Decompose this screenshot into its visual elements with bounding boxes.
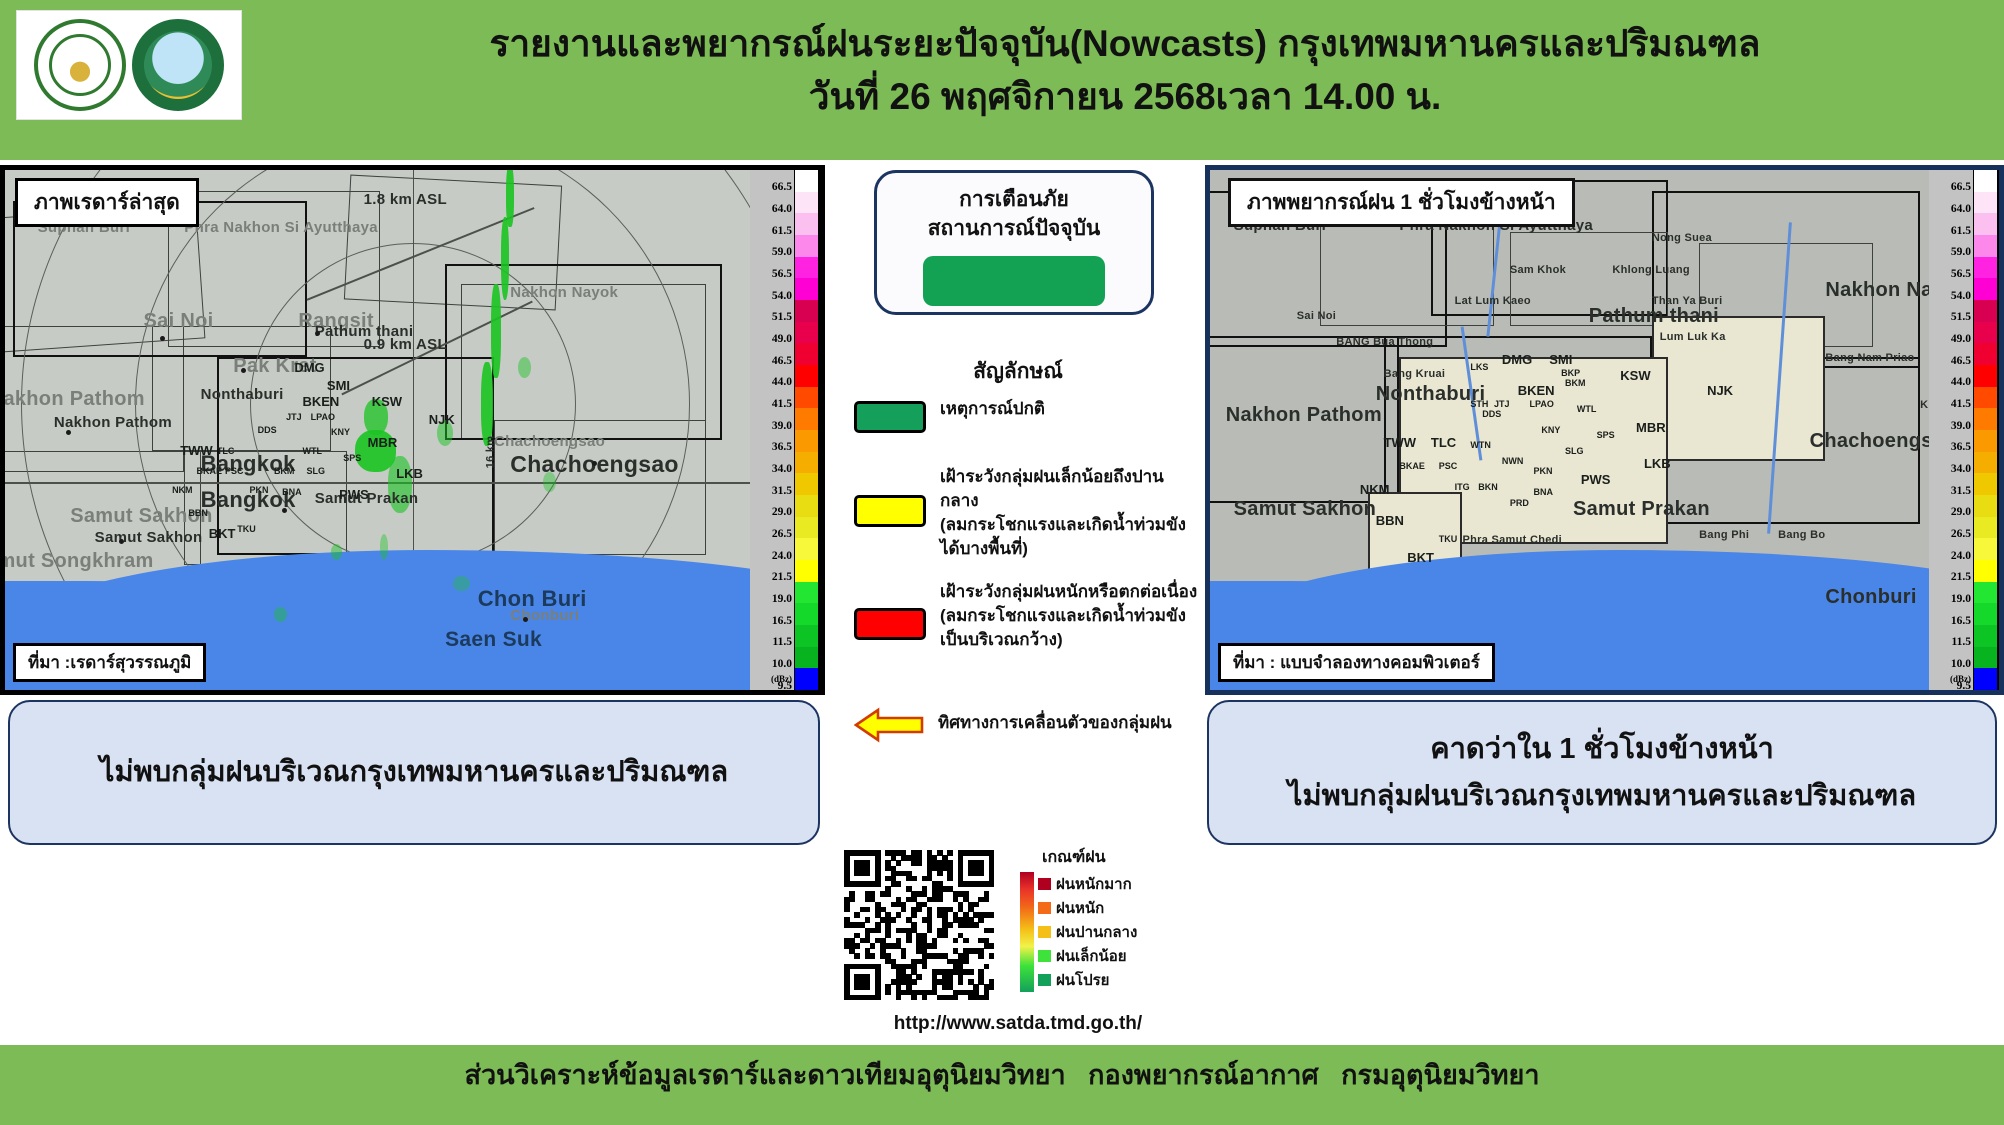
arrow-left-icon bbox=[854, 707, 924, 743]
colorbar-tick: 29.0 bbox=[772, 506, 792, 518]
alert-status-card: การเตือนภัย สถานการณ์ปัจจุบัน bbox=[874, 170, 1154, 315]
colorbar-tick: 24.0 bbox=[1951, 550, 1971, 562]
city-marker bbox=[592, 461, 597, 466]
district-code-dds: DDS bbox=[258, 425, 277, 435]
colorbar-segment bbox=[795, 408, 818, 430]
district-code-wtl: WTL bbox=[1577, 404, 1597, 414]
colorbar-segment bbox=[1974, 257, 1997, 279]
qr-code-block[interactable] bbox=[844, 850, 1016, 1000]
colorbar-tick: 16.5 bbox=[772, 615, 792, 627]
colorbar-segment bbox=[1974, 647, 1997, 669]
colorbar-segment bbox=[795, 582, 818, 604]
district-code-tku: TKU bbox=[237, 524, 256, 534]
radar-panel-title: ภาพเรดาร์ล่าสุด bbox=[15, 178, 199, 227]
summary-left-text: ไม่พบกลุ่มฝนบริเวณกรุงเทพมหานครและปริมณฑ… bbox=[100, 749, 728, 795]
colorbar-segment bbox=[1974, 603, 1997, 625]
rain-gradient-bar bbox=[1020, 872, 1034, 992]
district-code-pkn: PKN bbox=[1533, 466, 1552, 476]
footer-text: ส่วนวิเคราะห์ข้อมูลเรดาร์และดาวเทียมอุตุ… bbox=[464, 1053, 1539, 1096]
district-code-bkn: BKN bbox=[1478, 482, 1498, 492]
colorbar-segment bbox=[795, 538, 818, 560]
map-label-nakhonnayok: Nakhon Nayok bbox=[510, 284, 618, 301]
colorbar-segment bbox=[1974, 408, 1997, 430]
district-code-bkt: BKT bbox=[1407, 550, 1434, 565]
radar-axis-horizontal bbox=[5, 482, 820, 484]
district-code-dmg: DMG bbox=[1502, 352, 1532, 367]
district-code-slg: SLG bbox=[307, 466, 326, 476]
legend-swatch-green bbox=[854, 401, 926, 433]
map-label-saensuk: Saen Suk bbox=[445, 628, 542, 652]
colorbar-segment bbox=[795, 192, 818, 214]
agency-logos bbox=[16, 10, 242, 120]
colorbar-ticks: 66.564.061.559.056.554.051.549.046.544.0… bbox=[750, 170, 794, 690]
summary-box-forecast: คาดว่าใน 1 ชั่วโมงข้างหน้า ไม่พบกลุ่มฝนบ… bbox=[1207, 700, 1997, 845]
legend-heading: สัญลักษณ์ bbox=[838, 355, 1198, 388]
colorbar-tick: 11.5 bbox=[1952, 636, 1972, 648]
radar-echo bbox=[491, 284, 501, 378]
colorbar-segment bbox=[1974, 278, 1997, 300]
district-code-kny: KNY bbox=[331, 427, 350, 437]
district-code-bbn: BBN bbox=[188, 508, 208, 518]
colorbar-segment bbox=[795, 495, 818, 517]
forecast-map-canvas[interactable]: Suphan Buri Phra Nakhon Si Ayutthaya Nak… bbox=[1210, 170, 1999, 690]
district-code-lkb: LKB bbox=[396, 466, 423, 481]
legend-item-heavy: เฝ้าระวังกลุ่มฝนหนักหรือตกต่อเนื่อง (ลมก… bbox=[854, 580, 1197, 652]
page-header: รายงานและพยากรณ์ฝนระยะปัจจุบัน(Nowcasts)… bbox=[0, 0, 2004, 160]
alert-title-2: สถานการณ์ปัจจุบัน bbox=[928, 214, 1101, 243]
colorbar-tick: 26.5 bbox=[1951, 528, 1971, 540]
colorbar-segment bbox=[1974, 452, 1997, 474]
legend-item-direction: ทิศทางการเคลื่อนตัวของกลุ่มฝน bbox=[854, 705, 1172, 743]
radar-echo bbox=[481, 362, 493, 445]
colorbar-tick: 31.5 bbox=[772, 485, 792, 497]
district-code-pws: PWS bbox=[339, 487, 369, 502]
district-code-pws: PWS bbox=[1581, 472, 1611, 487]
district-code-prd: PRD bbox=[1510, 498, 1529, 508]
district-code-nkm: NKM bbox=[172, 485, 193, 495]
alert-status-badge bbox=[923, 256, 1105, 306]
colorbar-segment bbox=[1974, 365, 1997, 387]
district-code-nkm: NKM bbox=[1360, 482, 1390, 497]
radar-latest-panel[interactable]: 1.8 km ASL 0.9 km ASL Suphan Buri Phra N… bbox=[0, 165, 825, 695]
rain-criteria-swatch bbox=[1038, 878, 1051, 890]
district-code-mbr: MBR bbox=[368, 435, 398, 450]
colorbar-tick: 66.5 bbox=[1951, 181, 1971, 193]
district-code-sps: SPS bbox=[343, 453, 361, 463]
district-code-jtj: JTJ bbox=[1494, 399, 1510, 409]
colorbar-tick: 29.0 bbox=[1951, 506, 1971, 518]
colorbar-segment bbox=[795, 257, 818, 279]
radar-echo bbox=[380, 534, 388, 560]
district-code-smi: SMI bbox=[1549, 352, 1572, 367]
map-label-samutprakan: Samut Prakan bbox=[1573, 498, 1710, 521]
district-code-kny: KNY bbox=[1541, 425, 1560, 435]
district-code-sth: STH bbox=[1470, 399, 1488, 409]
district-code-mbr: MBR bbox=[1636, 420, 1666, 435]
legend-item-normal: เหตุการณ์ปกติ bbox=[854, 397, 1045, 433]
colorbar-strip bbox=[794, 170, 820, 690]
colorbar-segment bbox=[795, 517, 818, 539]
rain-criteria-swatch bbox=[1038, 902, 1051, 914]
district-code-lks: LKS bbox=[1470, 362, 1488, 372]
colorbar-segment bbox=[795, 430, 818, 452]
map-label-nakhonpathom-city: Nakhon Pathom bbox=[54, 414, 172, 431]
district-code-lpao: LPAO bbox=[311, 412, 335, 422]
colorbar-tick: 54.0 bbox=[1951, 290, 1971, 302]
map-label-bangbuathong: BANG Bua Thong bbox=[1336, 336, 1433, 348]
district-code-psc: PSC bbox=[1439, 461, 1458, 471]
radar-map-canvas[interactable]: 1.8 km ASL 0.9 km ASL Suphan Buri Phra N… bbox=[5, 170, 820, 690]
colorbar-segment bbox=[795, 322, 818, 344]
district-code-bken: BKEN bbox=[1518, 383, 1555, 398]
colorbar-segment bbox=[1974, 170, 1997, 192]
district-code-tww: TWW bbox=[180, 443, 212, 458]
colorbar-segment bbox=[795, 647, 818, 669]
district-code-tlc: TLC bbox=[1431, 435, 1456, 450]
rain-forecast-panel[interactable]: Suphan Buri Phra Nakhon Si Ayutthaya Nak… bbox=[1205, 165, 2004, 695]
city-marker bbox=[315, 331, 320, 336]
colorbar-segment bbox=[795, 170, 818, 192]
forecast-colorbar: 66.564.061.559.056.554.051.549.046.544.0… bbox=[1929, 170, 1999, 690]
colorbar-segment bbox=[795, 473, 818, 495]
colorbar-tick: 54.0 bbox=[772, 290, 792, 302]
colorbar-tick: 56.5 bbox=[1951, 268, 1971, 280]
tmd-royal-seal-icon bbox=[34, 19, 126, 111]
colorbar-tick: 11.5 bbox=[773, 636, 793, 648]
rain-criteria-swatch bbox=[1038, 974, 1051, 986]
title-line-1: รายงานและพยากรณ์ฝนระยะปัจจุบัน(Nowcasts)… bbox=[260, 18, 1990, 71]
colorbar-tick: 41.5 bbox=[1951, 398, 1971, 410]
district-code-bkp: BKP bbox=[1561, 368, 1580, 378]
colorbar-segment bbox=[795, 625, 818, 647]
map-label-phrasamutchedi: Phra Samut Chedi bbox=[1462, 534, 1562, 546]
legend-item-moderate: เฝ้าระวังกลุ่มฝนเล็กน้อยถึงปานกลาง (ลมกร… bbox=[854, 465, 1198, 562]
colorbar-tick: 59.0 bbox=[772, 246, 792, 258]
district-code-lpao: LPAO bbox=[1530, 399, 1554, 409]
colorbar-tick: 49.0 bbox=[1951, 333, 1971, 345]
colorbar-tick: 39.0 bbox=[772, 420, 792, 432]
rain-criteria-label: ฝนเล็กน้อย bbox=[1056, 944, 1127, 968]
colorbar-segment bbox=[1974, 625, 1997, 647]
alert-title-1: การเตือนภัย bbox=[959, 185, 1069, 214]
colorbar-unit: (dBz) bbox=[771, 674, 792, 684]
map-label-chonburi: Chonburi bbox=[510, 607, 579, 624]
city-marker bbox=[523, 617, 528, 622]
district-code-bkae: BKAE bbox=[1399, 461, 1425, 471]
district-code-sps: SPS bbox=[1597, 430, 1615, 440]
summary-right-line2: ไม่พบกลุ่มฝนบริเวณกรุงเทพมหานครและปริมณฑ… bbox=[1288, 773, 1916, 819]
summary-right-line1: คาดว่าใน 1 ชั่วโมงข้างหน้า bbox=[1430, 726, 1774, 772]
page-footer: ส่วนวิเคราะห์ข้อมูลเรดาร์และดาวเทียมอุตุ… bbox=[0, 1045, 2004, 1125]
colorbar-segment bbox=[1974, 430, 1997, 452]
radar-colorbar: 66.564.061.559.056.554.051.549.046.544.0… bbox=[750, 170, 820, 690]
colorbar-ticks: 66.564.061.559.056.554.051.549.046.544.0… bbox=[1929, 170, 1973, 690]
colorbar-segment bbox=[1974, 473, 1997, 495]
colorbar-segment bbox=[1974, 322, 1997, 344]
map-label-nonthaburi: Nonthaburi bbox=[1376, 383, 1486, 406]
district-code-tww: TWW bbox=[1384, 435, 1416, 450]
district-code-lkb: LKB bbox=[1644, 456, 1671, 471]
colorbar-segment bbox=[1974, 235, 1997, 257]
colorbar-segment bbox=[1974, 495, 1997, 517]
colorbar-tick: 66.5 bbox=[772, 181, 792, 193]
legend-swatch-red bbox=[854, 608, 926, 640]
map-label-latlumkaeo: Lat Lum Kaeo bbox=[1455, 295, 1531, 307]
colorbar-tick: 64.0 bbox=[772, 203, 792, 215]
forecast-source-label: ที่มา : แบบจำลองทางคอมพิวเตอร์ bbox=[1218, 643, 1495, 682]
colorbar-tick: 49.0 bbox=[772, 333, 792, 345]
colorbar-segment bbox=[1974, 213, 1997, 235]
rain-criteria-label: ฝนโปรย bbox=[1056, 968, 1109, 992]
colorbar-tick: 51.5 bbox=[1951, 311, 1971, 323]
colorbar-segment bbox=[795, 278, 818, 300]
rain-criteria-title: เกณฑ์ฝน bbox=[1042, 845, 1200, 870]
rain-criteria-item: ฝนปานกลาง bbox=[1038, 920, 1137, 944]
map-label-pathumthani: Pathum thani bbox=[315, 323, 414, 340]
legend-label-normal: เหตุการณ์ปกติ bbox=[940, 397, 1045, 421]
district-code-bkae: BKAE bbox=[197, 466, 223, 476]
colorbar-segment bbox=[1974, 582, 1997, 604]
map-label-bangbo: Bang Bo bbox=[1778, 529, 1825, 541]
legend-swatch-yellow bbox=[854, 495, 926, 527]
map-label-chonburi: Chonburi bbox=[1825, 586, 1916, 609]
rain-criteria-label: ฝนหนัก bbox=[1056, 896, 1104, 920]
district-code-wtl: WTL bbox=[302, 446, 322, 456]
colorbar-segment bbox=[1974, 668, 1997, 690]
colorbar-tick: 56.5 bbox=[772, 268, 792, 280]
colorbar-strip bbox=[1973, 170, 1999, 690]
map-label-nakhonpathom: Nakhon Pathom bbox=[1226, 404, 1382, 427]
city-marker bbox=[241, 368, 246, 373]
district-code-bna: BNA bbox=[1533, 487, 1553, 497]
colorbar-tick: 10.0 bbox=[772, 658, 792, 670]
legend-label-direction: ทิศทางการเคลื่อนตัวของกลุ่มฝน bbox=[938, 711, 1172, 735]
rain-criteria-swatch bbox=[1038, 926, 1051, 938]
rain-criteria-label: ฝนปานกลาง bbox=[1056, 920, 1137, 944]
district-code-bkt: BKT bbox=[209, 526, 236, 541]
radar-echo bbox=[506, 165, 513, 227]
colorbar-tick: 36.5 bbox=[772, 441, 792, 453]
legend-column: การเตือนภัย สถานการณ์ปัจจุบัน สัญลักษณ์ … bbox=[838, 165, 1198, 1045]
colorbar-segment bbox=[795, 603, 818, 625]
map-label-samutsakhon: Samut Sakhon bbox=[1234, 498, 1377, 521]
colorbar-segment bbox=[1974, 560, 1997, 582]
colorbar-tick: 64.0 bbox=[1951, 203, 1971, 215]
colorbar-tick: 24.0 bbox=[772, 550, 792, 562]
rain-criteria-item: ฝนหนัก bbox=[1038, 896, 1137, 920]
colorbar-segment bbox=[1974, 343, 1997, 365]
colorbar-segment bbox=[795, 365, 818, 387]
district-code-dmg: DMG bbox=[294, 360, 324, 375]
colorbar-tick: 21.5 bbox=[772, 571, 792, 583]
altitude-label-18: 1.8 km ASL bbox=[364, 191, 447, 208]
summary-box-current: ไม่พบกลุ่มฝนบริเวณกรุงเทพมหานครและปริมณฑ… bbox=[8, 700, 820, 845]
colorbar-tick: 61.5 bbox=[1951, 225, 1971, 237]
colorbar-tick: 41.5 bbox=[772, 398, 792, 410]
district-code-bna: BNA bbox=[282, 487, 302, 497]
colorbar-tick: 19.0 bbox=[772, 593, 792, 605]
map-label-nakhonpathom-prov: Nakhon Pathom bbox=[0, 388, 145, 411]
district-code-njk: NJK bbox=[1707, 383, 1733, 398]
colorbar-tick: 46.5 bbox=[1951, 355, 1971, 367]
colorbar-tick: 16.5 bbox=[1951, 615, 1971, 627]
map-label-nonthaburi: Nonthaburi bbox=[201, 386, 284, 403]
colorbar-tick: 36.5 bbox=[1951, 441, 1971, 453]
district-code-bken: BKEN bbox=[302, 394, 339, 409]
map-label-bangkruai: Bang Kruai bbox=[1384, 368, 1446, 380]
district-code-bbn: BBN bbox=[1376, 513, 1404, 528]
rain-criteria-item: ฝนเล็กน้อย bbox=[1038, 944, 1137, 968]
district-code-ksw: KSW bbox=[372, 394, 402, 409]
legend-label-heavy: เฝ้าระวังกลุ่มฝนหนักหรือตกต่อเนื่อง (ลมก… bbox=[940, 580, 1197, 652]
map-label-lumlukka: Lum Luk Ka bbox=[1660, 331, 1726, 343]
district-code-nwn: NWN bbox=[1502, 456, 1524, 466]
colorbar-tick: 46.5 bbox=[772, 355, 792, 367]
map-label-samutsakhon-city: Samut Sakhon bbox=[95, 529, 203, 546]
colorbar-tick: 26.5 bbox=[772, 528, 792, 540]
radar-source-label: ที่มา :เรดาร์สุวรรณภูมิ bbox=[13, 643, 206, 682]
colorbar-tick: 34.0 bbox=[1951, 463, 1971, 475]
colorbar-segment bbox=[795, 300, 818, 322]
satda-url-text[interactable]: http://www.satda.tmd.go.th/ bbox=[838, 1013, 1198, 1035]
map-label-sainoi: Sai Noi bbox=[144, 310, 214, 333]
district-code-bkm: BKM bbox=[1565, 378, 1586, 388]
map-label-khlongluang: Khlong Luang bbox=[1612, 264, 1690, 276]
colorbar-tick: 44.0 bbox=[772, 376, 792, 388]
tmd-meteorological-seal-icon bbox=[132, 19, 224, 111]
map-label-bangphi: Bang Phi bbox=[1699, 529, 1749, 541]
rain-criteria-items: ฝนหนักมากฝนหนักฝนปานกลางฝนเล็กน้อยฝนโปรย bbox=[1038, 872, 1137, 992]
colorbar-tick: 10.0 bbox=[1951, 658, 1971, 670]
district-code-slg: SLG bbox=[1565, 446, 1584, 456]
rain-criteria-item: ฝนหนักมาก bbox=[1038, 872, 1137, 896]
map-label-samutsongkhram: Samut Songkhram bbox=[0, 550, 154, 573]
colorbar-segment bbox=[795, 387, 818, 409]
colorbar-segment bbox=[1974, 387, 1997, 409]
colorbar-tick: 39.0 bbox=[1951, 420, 1971, 432]
rain-criteria-legend: เกณฑ์ฝน ฝนหนักมากฝนหนักฝนปานกลางฝนเล็กน้… bbox=[1020, 845, 1200, 992]
colorbar-tick: 44.0 bbox=[1951, 376, 1971, 388]
district-code-psc: PSC bbox=[225, 466, 244, 476]
forecast-panel-title: ภาพพยากรณ์ฝน 1 ชั่วโมงข้างหน้า bbox=[1228, 178, 1575, 227]
colorbar-tick: 51.5 bbox=[772, 311, 792, 323]
colorbar-segment bbox=[795, 668, 818, 690]
colorbar-tick: 61.5 bbox=[772, 225, 792, 237]
map-label-sainoi: Sai Noi bbox=[1297, 310, 1336, 322]
district-code-tlc: TLC bbox=[217, 446, 235, 456]
district-code-wtn: WTN bbox=[1470, 440, 1491, 450]
district-code-pkn: PKN bbox=[250, 485, 269, 495]
colorbar-tick: 59.0 bbox=[1951, 246, 1971, 258]
colorbar-segment bbox=[795, 343, 818, 365]
map-label-chachoengsao-prov: Chachoengsao bbox=[494, 433, 605, 450]
district-code-smi: SMI bbox=[327, 378, 350, 393]
map-label-ayutthaya: Phra Nakhon Si Ayutthaya bbox=[184, 219, 378, 236]
rain-criteria-item: ฝนโปรย bbox=[1038, 968, 1137, 992]
map-label-bangnampriao: Bang Nam Priao bbox=[1825, 352, 1914, 364]
page-title: รายงานและพยากรณ์ฝนระยะปัจจุบัน(Nowcasts)… bbox=[260, 18, 1990, 123]
radar-echo bbox=[453, 576, 469, 592]
map-label-samkhok: Sam Khok bbox=[1510, 264, 1566, 276]
colorbar-tick: 31.5 bbox=[1951, 485, 1971, 497]
district-code-itg: ITG bbox=[1455, 482, 1470, 492]
colorbar-segment bbox=[795, 235, 818, 257]
rain-criteria-label: ฝนหนักมาก bbox=[1056, 872, 1132, 896]
colorbar-tick: 34.0 bbox=[772, 463, 792, 475]
district-code-jtj: JTJ bbox=[286, 412, 302, 422]
rain-criteria-swatch bbox=[1038, 950, 1051, 962]
title-line-2: วันที่ 26 พฤศจิกายน 2568เวลา 14.00 น. bbox=[260, 71, 1990, 124]
district-code-bkm: BKM bbox=[274, 466, 295, 476]
nowcast-report-page: รายงานและพยากรณ์ฝนระยะปัจจุบัน(Nowcasts)… bbox=[0, 0, 2004, 1125]
radar-echo bbox=[501, 217, 510, 300]
qr-code-satda-tmd[interactable] bbox=[844, 850, 994, 1000]
colorbar-segment bbox=[795, 213, 818, 235]
range-ring-label: 16 km bbox=[484, 435, 496, 468]
colorbar-tick: 19.0 bbox=[1951, 593, 1971, 605]
district-code-tku: TKU bbox=[1439, 534, 1458, 544]
colorbar-segment bbox=[795, 560, 818, 582]
colorbar-segment bbox=[1974, 192, 1997, 214]
map-label-pathumthani: Pathum thani bbox=[1589, 305, 1719, 328]
colorbar-segment bbox=[1974, 300, 1997, 322]
boundary bbox=[1320, 222, 1494, 326]
colorbar-segment bbox=[795, 452, 818, 474]
colorbar-segment bbox=[1974, 538, 1997, 560]
district-code-ksw: KSW bbox=[1620, 368, 1650, 383]
map-label-nongsuea: Nong Suea bbox=[1652, 232, 1712, 244]
colorbar-tick: 21.5 bbox=[1951, 571, 1971, 583]
colorbar-segment bbox=[1974, 517, 1997, 539]
colorbar-unit: (dBz) bbox=[1950, 674, 1971, 684]
district-code-njk: NJK bbox=[429, 412, 455, 427]
district-code-dds: DDS bbox=[1482, 409, 1501, 419]
page-body: 1.8 km ASL 0.9 km ASL Suphan Buri Phra N… bbox=[0, 160, 2004, 1045]
legend-label-moderate: เฝ้าระวังกลุ่มฝนเล็กน้อยถึงปานกลาง (ลมกร… bbox=[940, 465, 1198, 562]
